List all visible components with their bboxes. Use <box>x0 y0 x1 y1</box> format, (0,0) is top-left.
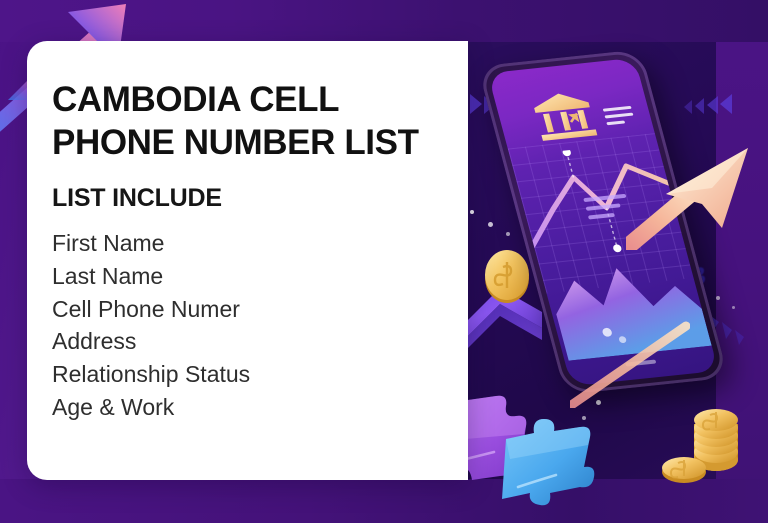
growth-arrow-icon <box>626 130 756 250</box>
puzzle-piece-icon <box>492 415 602 515</box>
fintech-illustration: $ ₿ € $ <box>430 0 768 523</box>
sparkle-dot <box>732 306 735 309</box>
list-item: Cell Phone Numer <box>52 293 448 326</box>
menu-line <box>606 120 625 125</box>
hamburger-menu-icon[interactable] <box>603 106 637 129</box>
sparkle-dot <box>488 222 493 227</box>
bank-icon <box>529 89 601 145</box>
list-item: Address <box>52 325 448 358</box>
chevron-right-decoration-icon <box>680 90 736 134</box>
coin-stack-icon <box>662 398 762 493</box>
menu-line <box>603 106 632 112</box>
included-fields-list: First Name Last Name Cell Phone Numer Ad… <box>52 227 448 423</box>
menu-line <box>605 113 634 119</box>
page-title: CAMBODIA CELL PHONE NUMBER LIST <box>52 79 448 164</box>
sparkle-dot <box>506 232 510 236</box>
gold-coin-icon <box>478 248 536 306</box>
list-item: Age & Work <box>52 391 448 424</box>
sparkle-dot <box>470 210 474 214</box>
list-item: First Name <box>52 227 448 260</box>
list-item: Last Name <box>52 260 448 293</box>
list-item: Relationship Status <box>52 358 448 391</box>
list-include-heading: LIST INCLUDE <box>52 184 448 213</box>
data-bar <box>586 203 621 210</box>
content-card: CAMBODIA CELL PHONE NUMBER LIST LIST INC… <box>27 41 468 480</box>
data-bar <box>588 213 615 220</box>
growth-arrow-secondary-icon <box>570 318 690 408</box>
sparkle-dot <box>716 296 720 300</box>
